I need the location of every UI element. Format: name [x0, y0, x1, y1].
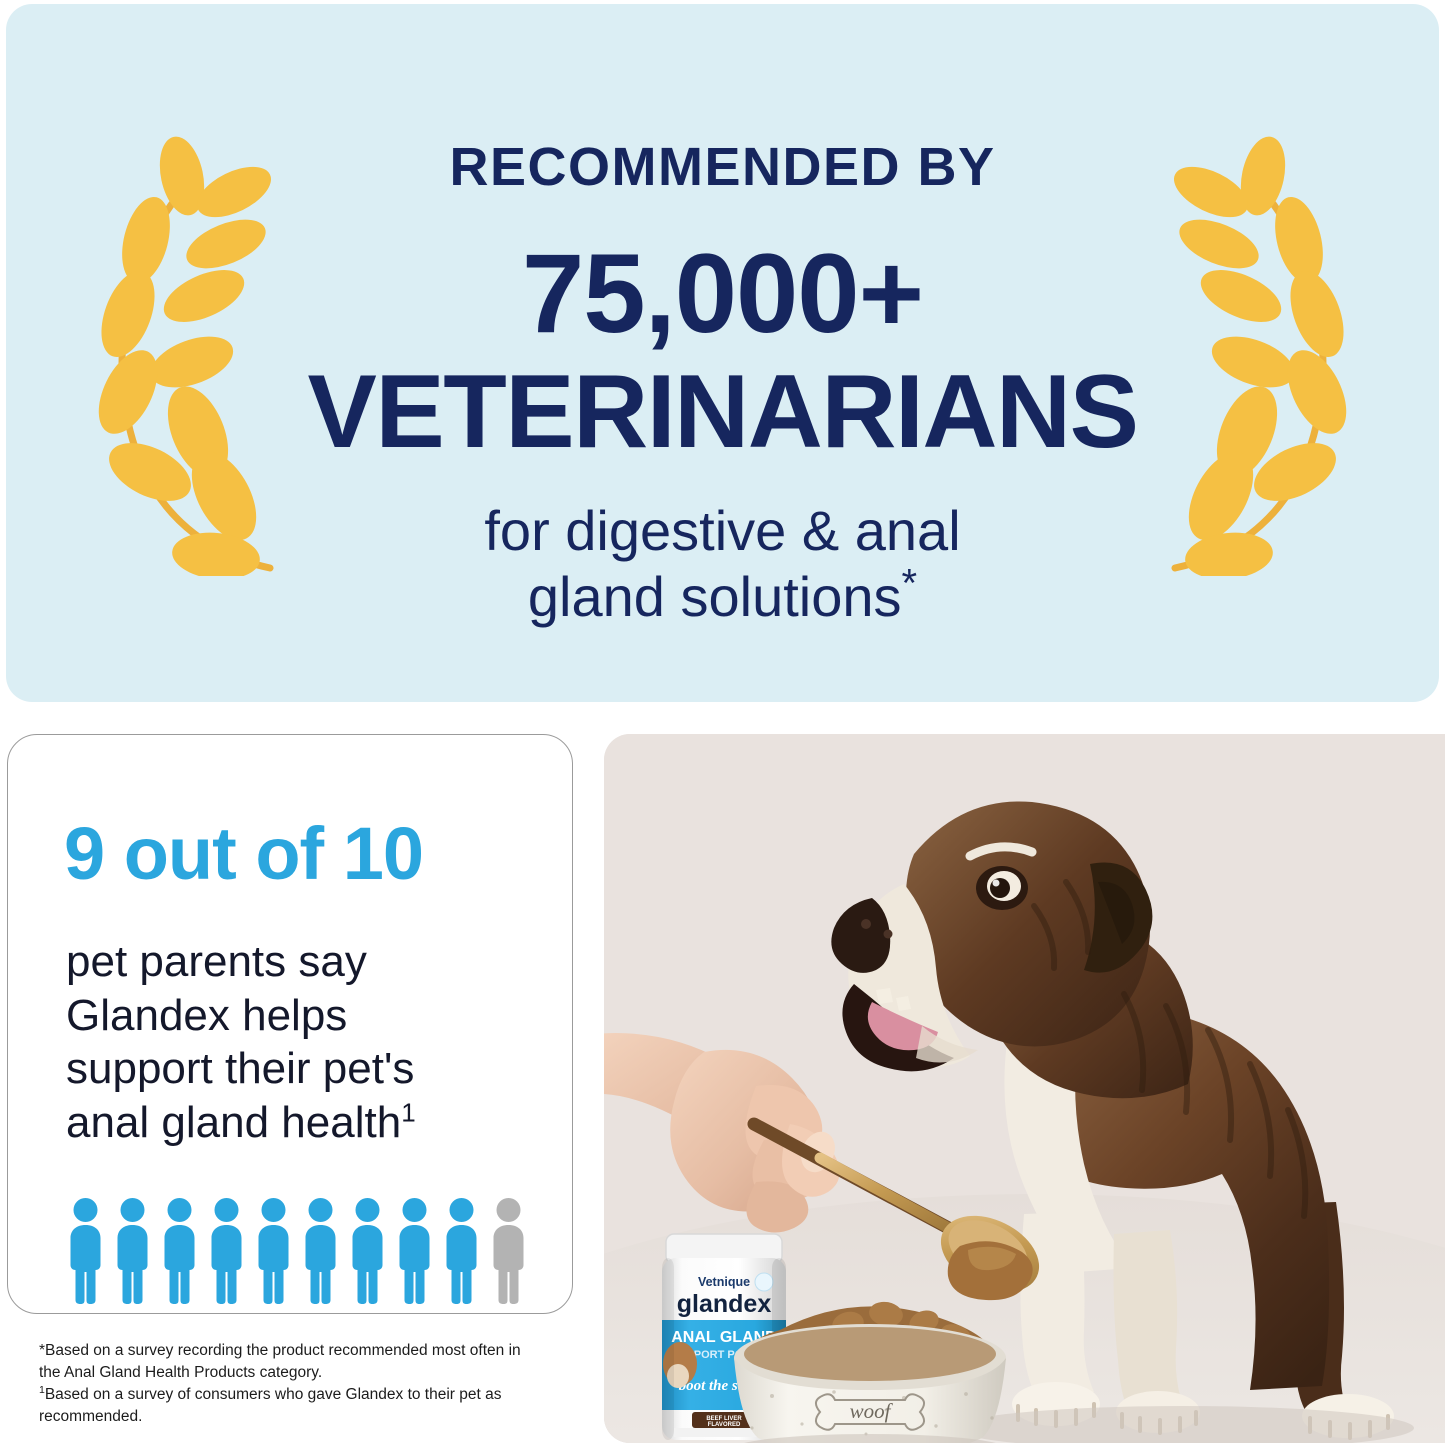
stat-headline: 9 out of 10: [64, 817, 423, 891]
vet-count: 75,000+: [6, 238, 1439, 350]
recommended-banner: RECOMMENDED BY 75,000+ VETERINARIANS for…: [6, 4, 1439, 702]
stat-body-line1: pet parents say: [66, 937, 367, 986]
person-icon-muted: [487, 1197, 530, 1305]
stat-body-line2: Glandex helps: [66, 991, 347, 1040]
person-icon-highlighted: [64, 1197, 107, 1305]
person-icon-highlighted: [205, 1197, 248, 1305]
footnotes-block: *Based on a survey recording the product…: [39, 1340, 539, 1428]
bottom-section: 9 out of 10 pet parents say Glandex help…: [0, 712, 1445, 1443]
banner-subtitle: for digestive & anal gland solutions*: [6, 498, 1439, 630]
person-icon-highlighted: [299, 1197, 342, 1305]
person-icon-highlighted: [158, 1197, 201, 1305]
person-icon-highlighted: [393, 1197, 436, 1305]
footnote-2: 1Based on a survey of consumers who gave…: [39, 1384, 539, 1428]
svg-text:Vetnique: Vetnique: [698, 1275, 750, 1289]
footnote-2-text: Based on a survey of consumers who gave …: [39, 1386, 502, 1425]
svg-text:FLAVORED: FLAVORED: [708, 1422, 741, 1428]
svg-text:woof: woof: [850, 1399, 894, 1423]
stat-card: 9 out of 10 pet parents say Glandex help…: [7, 734, 573, 1314]
svg-text:glandex: glandex: [677, 1290, 772, 1318]
people-pictogram: [64, 1197, 530, 1305]
recommended-by-label: RECOMMENDED BY: [6, 140, 1439, 194]
banner-text-block: RECOMMENDED BY 75,000+ VETERINARIANS for…: [6, 140, 1439, 630]
banner-subtitle-asterisk: *: [902, 562, 918, 606]
stat-body: pet parents say Glandex helps support th…: [66, 935, 536, 1150]
person-icon-highlighted: [252, 1197, 295, 1305]
banner-subtitle-line2: gland solutions: [528, 565, 902, 628]
stat-body-line4: anal gland health: [66, 1098, 401, 1147]
vet-audience-label: VETERINARIANS: [6, 356, 1439, 468]
product-lifestyle-photo: Vetnique glandex ANAL GLAND SUPPORT POWD…: [604, 734, 1445, 1443]
person-icon-highlighted: [346, 1197, 389, 1305]
person-icon-highlighted: [111, 1197, 154, 1305]
stat-body-line3: support their pet's: [66, 1044, 414, 1093]
person-icon-highlighted: [440, 1197, 483, 1305]
footnote-1-text: Based on a survey recording the product …: [39, 1342, 521, 1381]
stat-body-superscript: 1: [401, 1097, 415, 1127]
footnote-1: *Based on a survey recording the product…: [39, 1340, 539, 1384]
banner-subtitle-line1: for digestive & anal: [484, 499, 960, 562]
